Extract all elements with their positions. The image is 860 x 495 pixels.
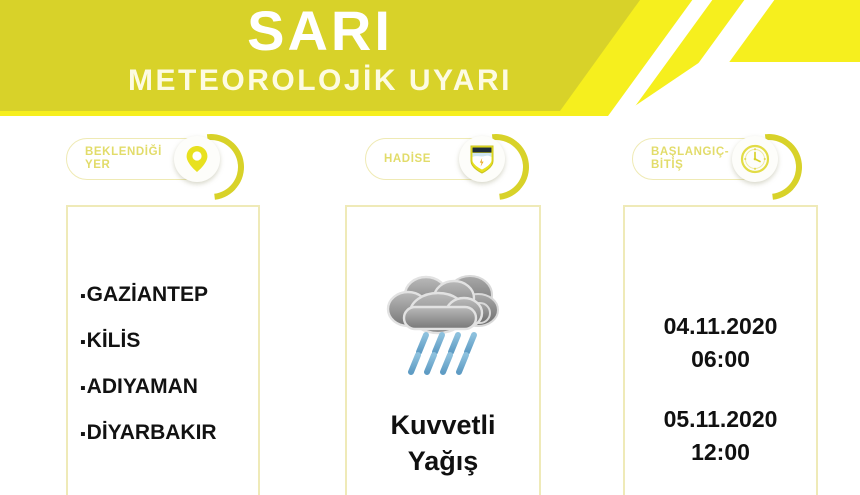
list-item: ADIYAMAN — [80, 365, 258, 411]
heavy-rain-cloud-icon — [378, 255, 508, 375]
list-item: KİLİS — [80, 319, 258, 365]
badge-icon-circle — [732, 136, 778, 182]
end-date: 05.11.2020 — [625, 403, 816, 436]
badge-expected-location: BEKLENDİĞİ YER — [66, 136, 246, 184]
clock-icon — [740, 144, 770, 174]
badge-icon-circle — [174, 136, 220, 182]
event-type-label: Kuvvetli Yağış — [347, 407, 539, 479]
event-icon-wrap — [347, 255, 539, 375]
badge-label-event: HADİSE — [366, 153, 431, 166]
end-time: 12:00 — [625, 436, 816, 469]
start-date: 04.11.2020 — [625, 310, 816, 343]
badge-icon-circle — [459, 136, 505, 182]
list-item: DİYARBAKIR — [80, 411, 258, 457]
header-banner: SARI METEOROLOJİK UYARI — [0, 0, 860, 132]
city-list: GAZİANTEP KİLİS ADIYAMAN DİYARBAKIR — [68, 207, 258, 457]
page-subtitle: METEOROLOJİK UYARI — [0, 64, 640, 98]
start-datetime: 04.11.2020 06:00 — [625, 310, 816, 376]
badge-label-time: BAŞLANGIÇ- BİTİŞ — [633, 146, 729, 172]
panel-event-type: Kuvvetli Yağış — [345, 205, 541, 495]
list-item: GAZİANTEP — [80, 273, 258, 319]
badge-label-place: BEKLENDİĞİ YER — [67, 146, 162, 172]
badge-start-end-time: BAŞLANGIÇ- BİTİŞ — [632, 136, 802, 184]
start-time: 06:00 — [625, 343, 816, 376]
location-pin-icon — [185, 145, 209, 173]
badge-event-type: HADİSE — [365, 136, 525, 184]
panel-expected-location: GAZİANTEP KİLİS ADIYAMAN DİYARBAKIR — [66, 205, 260, 495]
end-datetime: 05.11.2020 12:00 — [625, 403, 816, 469]
panel-start-end-time: 04.11.2020 06:00 05.11.2020 12:00 — [623, 205, 818, 495]
meteorology-shield-emblem-icon — [469, 144, 495, 174]
page-title: SARI — [0, 2, 640, 60]
